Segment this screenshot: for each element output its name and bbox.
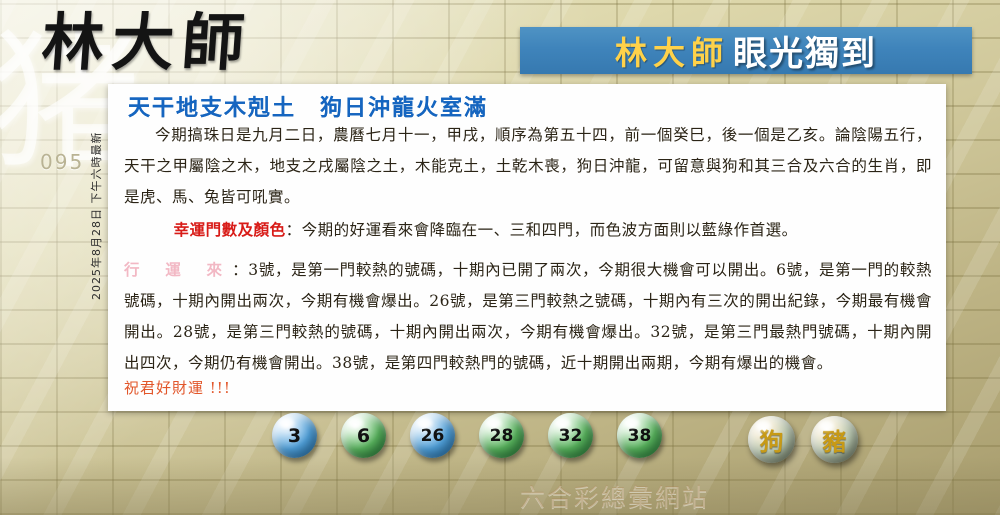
date-stamp: 2025年8月28日 下午六時最新 [88,132,104,301]
site-watermark: 六合彩總彙網站 [520,478,709,514]
forecast-text: ：3號，是第一門較熱的號碼，十期內已開了兩次，今期很大機會可以開出。6號，是第一… [124,261,932,372]
article-paragraph-intro: 今期搞珠日是九月二日，農曆七月十一，甲戌，順序為第五十四，前一個癸巳，後一個是乙… [124,120,932,213]
lucky-label: 幸運門數及顏色 [174,220,286,239]
page-root: 猪 095 林大師 林大師 眼光獨到 天干地支木剋土 狗日沖龍火室滿 今期搞珠日… [0,0,1000,515]
lucky-text: ：今期的好運看來會降臨在一、三和四門，而色波方面則以藍綠作首選。 [286,221,798,239]
number-ball[interactable]: 6 [341,413,386,458]
predicted-zodiac: 狗 豬 [748,416,858,463]
article-paragraph-lucky: 幸運門數及顏色：今期的好運看來會降臨在一、三和四門，而色波方面則以藍綠作首選。 [124,214,932,246]
banner-left-text: 林大師 [615,28,729,74]
article-card: 天干地支木剋土 狗日沖龍火室滿 今期搞珠日是九月二日，農曆七月十一，甲戌，順序為… [108,84,946,411]
forecast-label: 行 運 來 [124,260,232,279]
number-ball[interactable]: 28 [479,413,524,458]
article-paragraph-forecast: 行 運 來：3號，是第一門較熱的號碼，十期內已開了兩次，今期很大機會可以開出。6… [124,254,932,379]
banner-right-text: 眼光獨到 [733,26,877,75]
predicted-numbers: 3 6 26 28 32 38 [272,413,662,458]
number-ball[interactable]: 32 [548,413,593,458]
issue-number: 095 [40,150,84,174]
wish-text: 祝君好財運 !!! [124,377,231,398]
number-ball[interactable]: 38 [617,413,662,458]
header-banner: 林大師 眼光獨到 [520,27,972,74]
site-logo: 林大師 [40,12,254,74]
number-ball[interactable]: 26 [410,413,455,458]
zodiac-ball[interactable]: 豬 [811,416,858,463]
zodiac-ball[interactable]: 狗 [748,416,795,463]
bottom-shade [0,457,1000,515]
article-title: 天干地支木剋土 狗日沖龍火室滿 [128,90,488,122]
number-ball[interactable]: 3 [272,413,317,458]
